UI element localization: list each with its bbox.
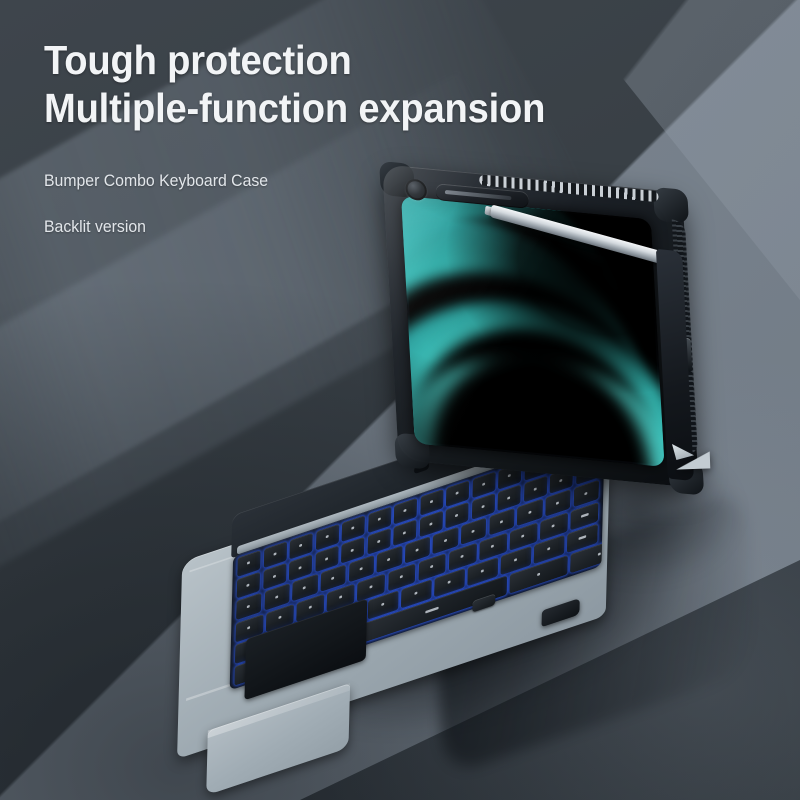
keyboard-key[interactable] xyxy=(510,522,538,550)
keyboard-key[interactable] xyxy=(524,476,548,503)
headline-line-1: Tough protection xyxy=(44,36,545,84)
headline-line-2: Multiple-function expansion xyxy=(44,84,545,132)
keyboard-key[interactable] xyxy=(517,499,543,526)
banner-canvas: Tough protection Multiple-function expan… xyxy=(0,0,800,800)
subheading-product-name: Bumper Combo Keyboard Case xyxy=(44,171,545,191)
marketing-copy: Tough protection Multiple-function expan… xyxy=(44,36,583,238)
subheading-variant: Backlit version xyxy=(44,217,545,237)
